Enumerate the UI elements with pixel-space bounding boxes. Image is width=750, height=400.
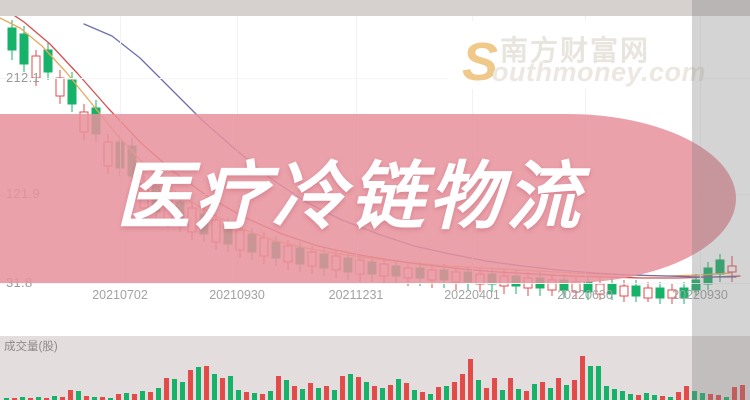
volume-bar [332, 390, 337, 400]
volume-bar [380, 388, 385, 400]
volume-bar [444, 386, 449, 400]
volume-bar [76, 391, 81, 400]
top-banner-strip [0, 0, 750, 16]
volume-bar [452, 382, 457, 400]
volume-bar [188, 370, 193, 400]
volume-bar [564, 385, 569, 400]
volume-bar [588, 366, 593, 400]
volume-bar [236, 390, 241, 400]
volume-bar [292, 386, 297, 400]
volume-chart-panel: 成交量(股) [0, 336, 750, 400]
volume-bar [660, 396, 665, 400]
volume-bar [532, 384, 537, 400]
volume-bar [548, 388, 553, 400]
volume-bar [364, 382, 369, 400]
volume-bar [516, 389, 521, 400]
volume-bar [116, 394, 121, 400]
volume-bar [500, 390, 505, 400]
volume-bar [540, 382, 545, 400]
volume-bar [84, 396, 89, 400]
volume-bar [372, 386, 377, 400]
volume-bar [572, 380, 577, 400]
volume-bar [252, 393, 257, 400]
volume-bar [524, 391, 529, 400]
volume-bar [52, 396, 57, 400]
volume-bar [276, 376, 281, 400]
volume-bar [396, 379, 401, 400]
page-title: 医疗冷链物流 [0, 160, 700, 234]
volume-bar [204, 366, 209, 400]
volume-bar [604, 386, 609, 400]
volume-bar [260, 394, 265, 400]
volume-bar [356, 377, 361, 400]
watermark-english-text: outhmoney.com [492, 57, 706, 88]
volume-bar [228, 376, 233, 400]
volume-bar [468, 359, 473, 400]
volume-bar [420, 392, 425, 400]
volume-bar [684, 386, 689, 400]
volume-bar [652, 395, 657, 400]
volume-bar [676, 392, 681, 400]
volume-bar [324, 386, 329, 400]
volume-bar [124, 393, 129, 400]
right-edge-scrim [692, 0, 750, 400]
volume-bar [156, 388, 161, 400]
volume-bar [628, 394, 633, 400]
x-axis-tick-label: 20220630 [557, 288, 613, 302]
volume-bar [644, 393, 649, 400]
volume-bar [68, 390, 73, 400]
volume-bar [404, 383, 409, 400]
volume-bar [244, 392, 249, 400]
volume-bar [620, 391, 625, 400]
volume-bar [436, 387, 441, 400]
volume-bar [132, 394, 137, 400]
volume-bar [492, 378, 497, 400]
volume-bar [636, 395, 641, 400]
volume-bar [140, 391, 145, 400]
volume-bar [220, 378, 225, 400]
volume-bar [180, 382, 185, 400]
volume-bar [556, 378, 561, 400]
x-axis-tick-label: 20210702 [92, 288, 148, 302]
x-axis-tick-label: 20210930 [209, 288, 265, 302]
x-axis-tick-label: 20211231 [329, 288, 384, 302]
volume-bar [340, 376, 345, 400]
x-axis-tick-label: 20220401 [444, 288, 500, 302]
volume-bar [412, 390, 417, 400]
volume-bar [388, 385, 393, 400]
y-axis-tick-label: 212.1 [6, 70, 40, 85]
volume-bar [612, 389, 617, 400]
volume-bar [316, 388, 321, 400]
volume-bar [164, 378, 169, 400]
stock-chart-screenshot: 212.1121.931.8 2021070220210930202112312… [0, 0, 750, 400]
volume-bars [0, 354, 750, 400]
volume-bar [308, 383, 313, 400]
volume-bar [348, 374, 353, 400]
volume-bar [580, 356, 585, 400]
volume-bar [484, 388, 489, 400]
volume-bar [268, 391, 273, 400]
volume-bar [300, 389, 305, 400]
volume-bar [428, 394, 433, 400]
watermark-card: S 南方财富网 outhmoney.com [448, 21, 700, 89]
volume-bar [508, 378, 513, 400]
volume-bar [172, 379, 177, 400]
volume-bar [284, 380, 289, 400]
volume-bar [476, 380, 481, 400]
volume-axis-label: 成交量(股) [4, 338, 58, 354]
volume-bar [148, 392, 153, 400]
price-x-axis-labels: 2021070220210930202112312022040120220630… [0, 284, 750, 312]
volume-bar [596, 366, 601, 400]
volume-bar [196, 367, 201, 400]
volume-bar [212, 374, 217, 400]
volume-bar [460, 374, 465, 400]
